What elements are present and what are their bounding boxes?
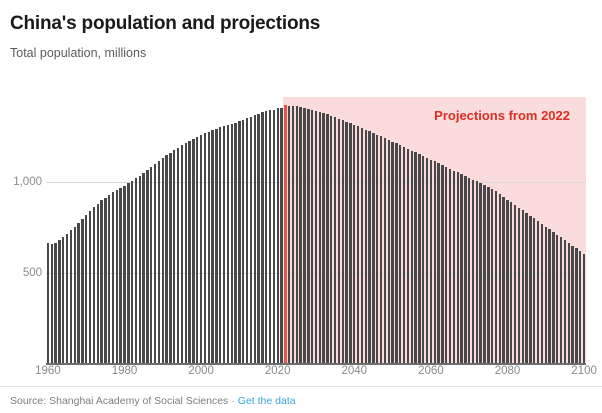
chart-canvas: Projections from 2022 (46, 92, 586, 363)
bar[interactable] (445, 167, 447, 363)
y-axis-tick-label: 500 (2, 267, 42, 279)
chart-header: China's population and projections Total… (10, 12, 592, 61)
bar[interactable] (568, 243, 570, 363)
bar[interactable] (349, 123, 351, 363)
bar[interactable] (533, 218, 535, 363)
bar[interactable] (261, 112, 263, 363)
bar[interactable] (556, 235, 558, 363)
bar[interactable] (411, 151, 413, 363)
x-axis-tick-label: 2000 (188, 364, 214, 378)
bar[interactable] (342, 120, 344, 363)
bar[interactable] (575, 248, 577, 363)
bar[interactable] (541, 224, 543, 363)
bar[interactable] (54, 243, 56, 363)
bar[interactable] (315, 111, 317, 363)
bar[interactable] (560, 237, 562, 363)
bar[interactable] (162, 158, 164, 363)
bar[interactable] (303, 108, 305, 363)
bar[interactable] (127, 183, 129, 363)
bar[interactable] (468, 178, 470, 363)
bar[interactable] (499, 194, 501, 363)
bar[interactable] (460, 174, 462, 363)
bar[interactable] (395, 143, 397, 363)
bar[interactable] (62, 237, 64, 363)
bar[interactable] (449, 169, 451, 363)
bar[interactable] (345, 122, 347, 363)
bar[interactable] (173, 150, 175, 363)
chart-footer: Source: Shanghai Academy of Social Scien… (10, 394, 296, 408)
bar[interactable] (472, 180, 474, 363)
bar[interactable] (545, 227, 547, 363)
bar[interactable] (66, 234, 68, 363)
bar[interactable] (502, 197, 504, 363)
bar[interactable] (403, 147, 405, 363)
bar[interactable] (529, 216, 531, 363)
bar[interactable] (265, 111, 267, 363)
bar[interactable] (97, 204, 99, 363)
bar[interactable] (185, 143, 187, 363)
bar[interactable] (407, 149, 409, 363)
bar[interactable] (119, 188, 121, 363)
x-axis-tick-label: 2060 (418, 364, 444, 378)
bar[interactable] (514, 205, 516, 363)
bar[interactable] (441, 165, 443, 363)
bar[interactable] (211, 130, 213, 363)
bar[interactable] (430, 160, 432, 363)
bar[interactable] (288, 106, 290, 363)
bar[interactable] (495, 191, 497, 363)
bar[interactable] (188, 141, 190, 363)
chart-page: China's population and projections Total… (0, 0, 602, 413)
bar[interactable] (518, 208, 520, 363)
bar[interactable] (388, 140, 390, 363)
bar[interactable] (238, 121, 240, 363)
x-axis-baseline (46, 363, 586, 365)
bar[interactable] (368, 131, 370, 363)
x-axis-tick-label: 2100 (571, 364, 597, 378)
bar[interactable] (322, 113, 324, 363)
bar[interactable] (426, 158, 428, 363)
bar[interactable] (139, 176, 141, 363)
bar[interactable] (311, 110, 313, 363)
bar[interactable] (548, 229, 550, 363)
bar[interactable] (418, 154, 420, 363)
projection-start-marker-line (284, 105, 286, 363)
bar[interactable] (353, 125, 355, 363)
bar[interactable] (70, 230, 72, 363)
bar[interactable] (491, 189, 493, 363)
bar[interactable] (376, 135, 378, 363)
bar[interactable] (277, 108, 279, 363)
bar[interactable] (296, 106, 298, 363)
bar[interactable] (108, 195, 110, 363)
x-axis-labels: 19601980200020202040206020802100 (46, 364, 586, 382)
bar[interactable] (254, 115, 256, 363)
bar[interactable] (85, 215, 87, 363)
bar[interactable] (58, 240, 60, 363)
bar[interactable] (292, 106, 294, 363)
bar[interactable] (246, 118, 248, 363)
bar[interactable] (483, 185, 485, 363)
bar[interactable] (234, 123, 236, 363)
bar[interactable] (510, 202, 512, 363)
bar[interactable] (146, 170, 148, 363)
bar[interactable] (89, 211, 91, 363)
x-axis-tick-label: 2040 (342, 364, 368, 378)
footer-divider (0, 386, 602, 387)
bar[interactable] (231, 124, 233, 363)
bar[interactable] (74, 227, 76, 363)
bar[interactable] (169, 153, 171, 363)
bar[interactable] (154, 164, 156, 363)
chart-subtitle: Total population, millions (10, 45, 592, 61)
y-axis-labels: 5001,000 (0, 92, 42, 363)
bar[interactable] (269, 110, 271, 363)
bar[interactable] (112, 192, 114, 363)
bar[interactable] (434, 161, 436, 363)
bar[interactable] (357, 126, 359, 363)
bar[interactable] (422, 156, 424, 363)
bar[interactable] (227, 125, 229, 363)
bar[interactable] (208, 132, 210, 363)
bar[interactable] (150, 167, 152, 363)
bar[interactable] (479, 183, 481, 363)
bar[interactable] (522, 210, 524, 363)
bar[interactable] (219, 127, 221, 363)
bar[interactable] (273, 110, 275, 363)
projection-annotation-label: Projections from 2022 (434, 108, 570, 123)
bar[interactable] (280, 108, 282, 363)
x-axis-tick-label: 1980 (112, 364, 138, 378)
x-axis-tick-label: 2020 (265, 364, 291, 378)
footer-separator: · (231, 395, 235, 407)
bar[interactable] (319, 112, 321, 363)
bar[interactable] (330, 116, 332, 363)
bar[interactable] (571, 246, 573, 363)
bar[interactable] (365, 130, 367, 363)
y-axis-tick-label: 1,000 (2, 176, 42, 188)
bar[interactable] (165, 155, 167, 363)
bar[interactable] (307, 109, 309, 363)
bar[interactable] (116, 190, 118, 363)
chart-plot-area: 5001,000 Projections from 2022 (0, 85, 602, 373)
x-axis-tick-label: 2080 (495, 364, 521, 378)
bar[interactable] (131, 181, 133, 363)
get-the-data-link[interactable]: Get the data (238, 395, 296, 407)
bar[interactable] (506, 200, 508, 364)
bar[interactable] (414, 152, 416, 363)
bar[interactable] (583, 254, 585, 363)
bar[interactable] (223, 126, 225, 363)
bar[interactable] (104, 198, 106, 363)
bar[interactable] (100, 200, 102, 363)
bar[interactable] (384, 138, 386, 363)
bar[interactable] (437, 163, 439, 363)
bar[interactable] (552, 232, 554, 363)
bar[interactable] (476, 181, 478, 363)
bar[interactable] (204, 133, 206, 363)
bar[interactable] (215, 129, 217, 363)
bar[interactable] (196, 137, 198, 363)
bar[interactable] (564, 240, 566, 363)
bar[interactable] (123, 186, 125, 363)
bar[interactable] (200, 135, 202, 363)
bar[interactable] (487, 187, 489, 363)
bar[interactable] (77, 223, 79, 363)
bar[interactable] (257, 114, 259, 363)
bar[interactable] (299, 107, 301, 363)
bar[interactable] (464, 176, 466, 363)
bar[interactable] (51, 244, 53, 363)
bar[interactable] (47, 243, 49, 364)
bar[interactable] (177, 148, 179, 363)
bar[interactable] (361, 128, 363, 363)
bar[interactable] (242, 120, 244, 363)
bar[interactable] (326, 114, 328, 363)
bar[interactable] (181, 145, 183, 363)
bar[interactable] (525, 213, 527, 363)
x-axis-tick-label: 1960 (35, 364, 61, 378)
bar[interactable] (250, 117, 252, 363)
bar[interactable] (334, 117, 336, 363)
bar[interactable] (93, 207, 95, 363)
bar[interactable] (537, 221, 539, 363)
page-title: China's population and projections (10, 12, 592, 36)
bar[interactable] (81, 219, 83, 363)
bar[interactable] (372, 133, 374, 363)
bar-series (46, 92, 586, 363)
bar[interactable] (579, 251, 581, 363)
bar[interactable] (135, 178, 137, 363)
bar[interactable] (457, 172, 459, 363)
bar[interactable] (391, 142, 393, 363)
bar[interactable] (380, 136, 382, 363)
footer-source-text: Source: Shanghai Academy of Social Scien… (10, 395, 228, 407)
bar[interactable] (192, 139, 194, 363)
bar[interactable] (399, 145, 401, 363)
bar[interactable] (142, 173, 144, 363)
bar[interactable] (338, 119, 340, 363)
bar[interactable] (158, 161, 160, 363)
bar[interactable] (453, 171, 455, 363)
